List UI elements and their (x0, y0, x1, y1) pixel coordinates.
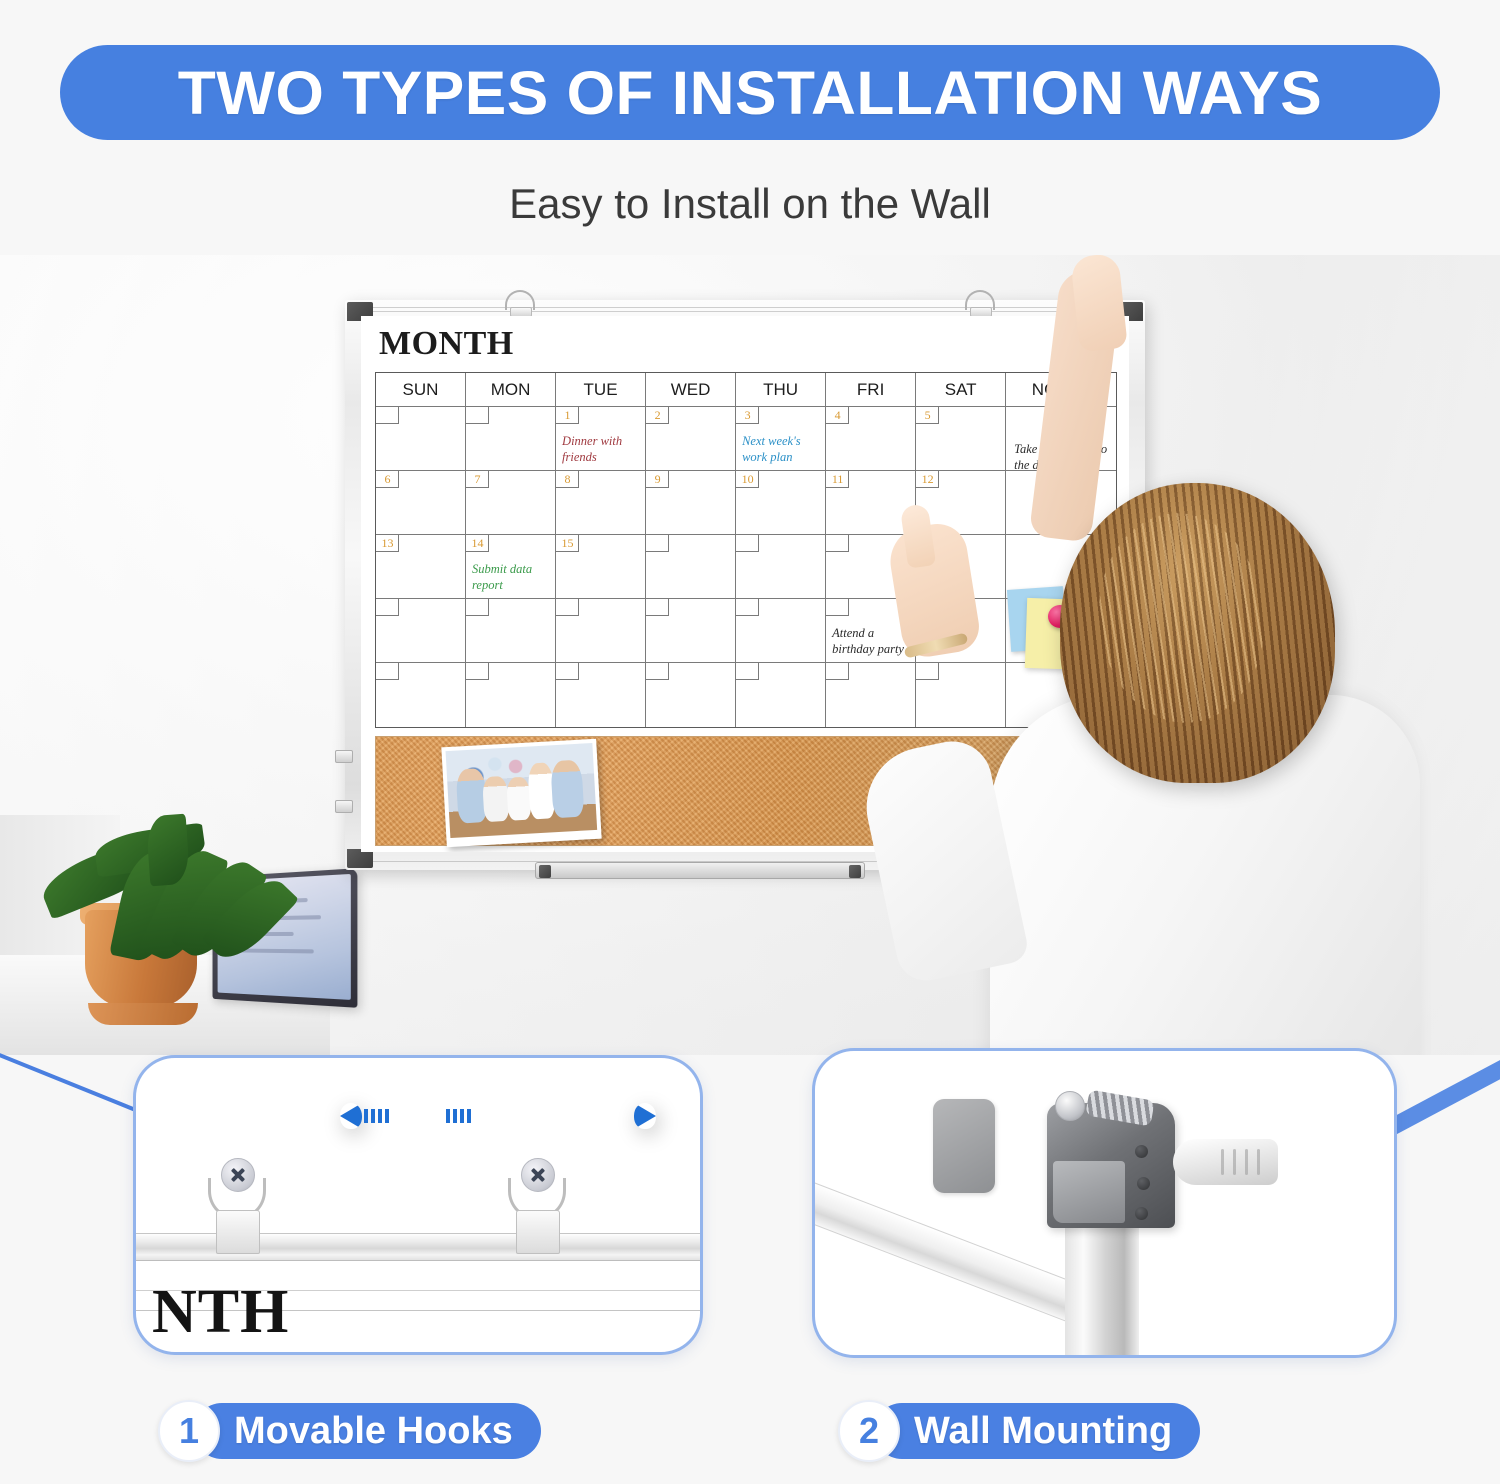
calendar-day-number (826, 599, 849, 616)
plant-saucer (88, 1003, 198, 1025)
calendar-day-cell (736, 599, 826, 663)
calendar-event-note: Next week's work plan (742, 433, 821, 465)
calendar-day-number (466, 599, 489, 616)
caption-movable-hooks: 1 Movable Hooks (158, 1400, 541, 1462)
calendar-day-cell (646, 599, 736, 663)
caption-number-badge: 2 (838, 1400, 900, 1462)
calendar-day-number (646, 663, 669, 680)
calendar-day-cell: 6 (376, 471, 466, 535)
calendar-day-number (556, 663, 579, 680)
movable-hook-left (204, 1158, 270, 1254)
page-subtitle: Easy to Install on the Wall (0, 180, 1500, 228)
calendar-day-number: 13 (376, 535, 399, 552)
calendar-day-cell (376, 599, 466, 663)
calendar-event-note: Submit data report (472, 561, 551, 593)
movable-hooks-panel: NTH (133, 1055, 703, 1355)
wall-scene-photo: MONTH SUNMONTUEWEDTHUFRISATNOTES1Dinner … (0, 255, 1500, 1055)
calendar-day-number (376, 599, 399, 616)
calendar-day-number (736, 663, 759, 680)
calendar-day-number (556, 599, 579, 616)
calendar-day-number (826, 535, 849, 552)
calendar-day-cell: 13 (376, 535, 466, 599)
pinned-family-photo (441, 739, 601, 847)
person-upper-hand (1070, 255, 1128, 352)
calendar-day-number (376, 407, 399, 424)
calendar-day-number (466, 407, 489, 424)
arrow-right-icon (434, 1103, 496, 1129)
calendar-day-number: 8 (556, 471, 579, 488)
calendar-day-number: 14 (466, 535, 489, 552)
calendar-day-number: 3 (736, 407, 759, 424)
caption-label: Wall Mounting (874, 1403, 1200, 1459)
person-head (1060, 483, 1335, 783)
movable-hook-right (504, 1158, 570, 1254)
calendar-day-cell (556, 663, 646, 727)
calendar-header-thu: THU (736, 373, 826, 407)
calendar-day-cell (736, 663, 826, 727)
locking-knob (1173, 1139, 1278, 1185)
calendar-day-number (466, 663, 489, 680)
calendar-day-number: 15 (556, 535, 579, 552)
calendar-header-wed: WED (646, 373, 736, 407)
calendar-day-cell (736, 535, 826, 599)
calendar-day-cell: 2 (646, 407, 736, 471)
wall-mounting-panel (812, 1048, 1397, 1358)
calendar-header-tue: TUE (556, 373, 646, 407)
calendar-day-cell: 8 (556, 471, 646, 535)
calendar-day-number: 9 (646, 471, 669, 488)
hanging-hook-icon (505, 290, 539, 312)
calendar-day-number (646, 535, 669, 552)
calendar-day-number (646, 599, 669, 616)
calendar-day-cell (646, 535, 736, 599)
calendar-day-number: 10 (736, 471, 759, 488)
calendar-event-note: Dinner with friends (562, 433, 641, 465)
calendar-day-cell: 7 (466, 471, 556, 535)
calendar-day-cell (466, 663, 556, 727)
arrow-left-icon (340, 1103, 402, 1129)
calendar-day-number: 11 (826, 471, 849, 488)
caption-number-badge: 1 (158, 1400, 220, 1462)
calendar-day-number: 6 (376, 471, 399, 488)
calendar-header-mon: MON (466, 373, 556, 407)
wall-mount-plate (933, 1099, 995, 1193)
caption-wall-mounting: 2 Wall Mounting (838, 1400, 1200, 1462)
calendar-day-cell (646, 663, 736, 727)
caption-label: Movable Hooks (194, 1403, 541, 1459)
calendar-day-number: 7 (466, 471, 489, 488)
screw-icon (221, 1158, 255, 1192)
board-post (1065, 1216, 1139, 1358)
calendar-day-cell (376, 663, 466, 727)
calendar-day-number: 1 (556, 407, 579, 424)
side-clip (335, 750, 353, 763)
calendar-day-cell (376, 407, 466, 471)
person-installing-board (860, 255, 1500, 1055)
calendar-day-number: 4 (826, 407, 849, 424)
calendar-day-cell (556, 599, 646, 663)
screw-icon (521, 1158, 555, 1192)
partial-month-text: NTH (152, 1277, 289, 1348)
calendar-day-cell: 1Dinner with friends (556, 407, 646, 471)
calendar-header-sun: SUN (376, 373, 466, 407)
calendar-day-cell: 14Submit data report (466, 535, 556, 599)
calendar-day-number: 2 (646, 407, 669, 424)
calendar-day-cell: 15 (556, 535, 646, 599)
slide-direction-arrows (136, 1103, 700, 1129)
calendar-day-number (376, 663, 399, 680)
page-title: TWO TYPES OF INSTALLATION WAYS (178, 58, 1323, 128)
header-title-banner: TWO TYPES OF INSTALLATION WAYS (60, 45, 1440, 140)
calendar-day-number (736, 599, 759, 616)
screw-icon (1055, 1091, 1085, 1121)
side-clip (335, 800, 353, 813)
calendar-day-number (826, 663, 849, 680)
calendar-day-cell: 3Next week's work plan (736, 407, 826, 471)
photo-image (446, 743, 598, 838)
mounting-bracket (1047, 1103, 1175, 1228)
calendar-day-cell: 10 (736, 471, 826, 535)
calendar-day-number (736, 535, 759, 552)
marker-tray (535, 862, 865, 879)
calendar-day-cell: 9 (646, 471, 736, 535)
calendar-day-cell (466, 599, 556, 663)
calendar-day-cell (466, 407, 556, 471)
